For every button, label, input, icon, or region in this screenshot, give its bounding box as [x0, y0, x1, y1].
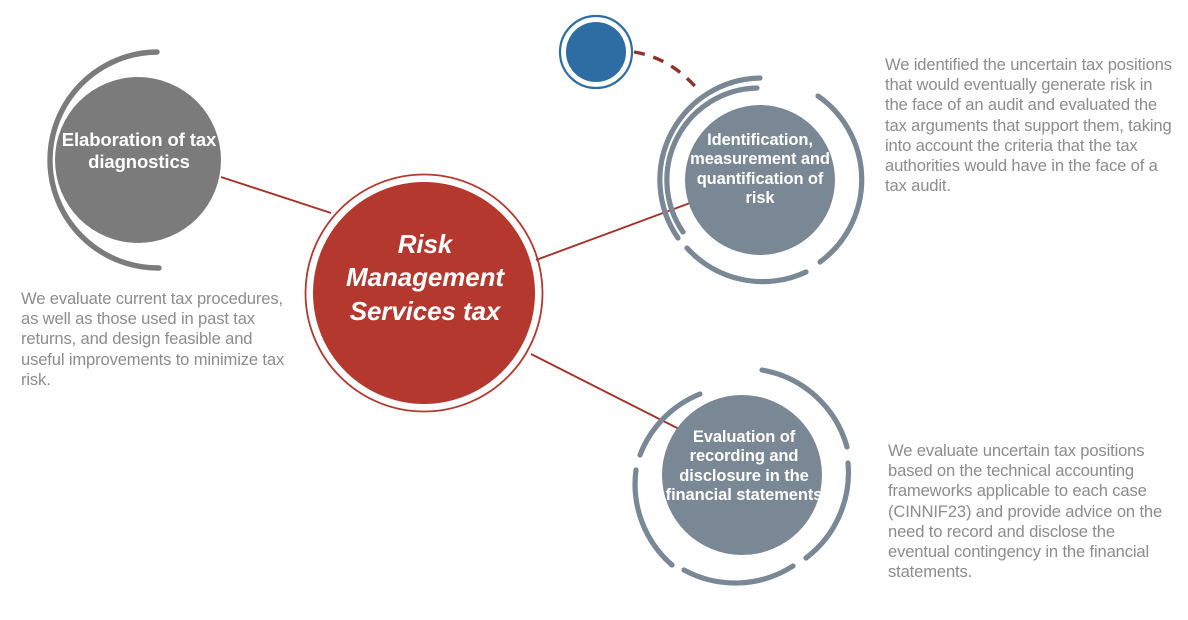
connector-dashed-marker [634, 52, 700, 92]
blue-marker[interactable] [560, 16, 632, 88]
node-evaluation-circle[interactable] [662, 395, 822, 555]
node-evaluation-description: We evaluate uncertain tax positions base… [888, 441, 1176, 583]
node-center-circle[interactable] [313, 182, 535, 404]
blue-marker-circle[interactable] [566, 22, 626, 82]
diagram-canvas: Elaboration of tax diagnostics Risk Mana… [0, 0, 1188, 620]
node-elaboration-circle[interactable] [55, 77, 221, 243]
node-identification-circle[interactable] [685, 105, 835, 255]
node-elaboration[interactable] [50, 52, 221, 268]
node-center[interactable] [306, 175, 543, 412]
node-identification-description: We identified the uncertain tax position… [885, 55, 1177, 197]
node-identification[interactable] [660, 78, 862, 282]
node-evaluation[interactable] [635, 370, 848, 583]
node-evaluation-arc-bottom [684, 566, 793, 583]
node-elaboration-description: We evaluate current tax procedures, as w… [21, 289, 286, 390]
connector-center-to-left [221, 177, 331, 213]
